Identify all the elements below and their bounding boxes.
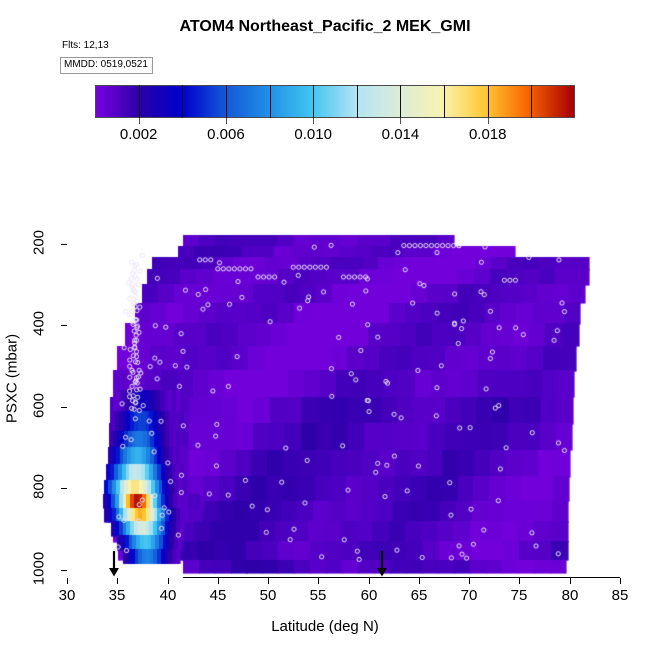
y-axis-tick-label: 600: [31, 388, 48, 424]
x-axis-tick: [519, 578, 520, 584]
colorbar-tick-label: 0.010: [294, 126, 332, 143]
x-axis-tick: [369, 578, 370, 584]
colorbar-tick: [488, 118, 489, 124]
colorbar-tick: [313, 118, 314, 124]
y-axis-tick: [61, 407, 67, 408]
colorbar-tick: [400, 118, 401, 124]
chart-root: ATOM4 Northeast_Pacific_2 MEK_GMI Flts: …: [0, 0, 650, 650]
x-axis-tick-label: 50: [260, 587, 277, 604]
y-axis-tick: [61, 570, 67, 571]
colorbar-segment-divider: [400, 85, 401, 118]
y-axis-tick: [61, 325, 67, 326]
x-axis-tick-label: 30: [59, 587, 76, 604]
colorbar-segment-divider: [488, 85, 489, 118]
y-axis-tick: [61, 488, 67, 489]
x-axis-tick-label: 80: [562, 587, 579, 604]
x-axis-tick: [218, 578, 219, 584]
x-axis-title: Latitude (deg N): [0, 618, 650, 635]
colorbar-tick-label: 0.018: [469, 126, 507, 143]
x-axis-tick-label: 75: [511, 587, 528, 604]
x-axis-tick-label: 70: [461, 587, 478, 604]
colorbar-segment-divider: [313, 85, 314, 118]
x-axis-tick-label: 40: [160, 587, 177, 604]
y-axis-tick-label: 400: [31, 306, 48, 342]
x-axis-tick-label: 35: [109, 587, 126, 604]
colorbar-tick: [139, 118, 140, 124]
y-axis-tick-label: 200: [31, 225, 48, 261]
colorbar-segment-divider: [139, 85, 140, 118]
x-axis-tick: [570, 578, 571, 584]
colorbar: [95, 85, 575, 118]
y-axis-title: PSXC (mbar): [4, 289, 21, 469]
y-axis-tick: [61, 244, 67, 245]
x-axis-tick-label: 60: [361, 587, 378, 604]
profile-marker-arrow: [375, 551, 389, 577]
x-axis-tick: [620, 578, 621, 584]
y-axis-tick-label: 800: [31, 469, 48, 505]
colorbar-segment-divider: [270, 85, 271, 118]
flights-label: Flts: 12,13: [62, 40, 109, 51]
x-axis-tick-label: 85: [612, 587, 629, 604]
colorbar-tick-label: 0.014: [382, 126, 420, 143]
x-axis-tick: [117, 578, 118, 584]
y-axis-tick-label: 1000: [31, 551, 48, 587]
colorbar-segment-divider: [182, 85, 183, 118]
colorbar-segment-divider: [531, 85, 532, 118]
colorbar-segment-divider: [357, 85, 358, 118]
mmdd-label: MMDD: 0519,0521: [60, 57, 153, 74]
colorbar-segment-divider: [444, 85, 445, 118]
x-axis-tick: [318, 578, 319, 584]
colorbar-tick-label: 0.002: [120, 126, 158, 143]
page-title: ATOM4 Northeast_Pacific_2 MEK_GMI: [0, 18, 650, 36]
x-axis-tick-label: 55: [310, 587, 327, 604]
x-axis-tick: [268, 578, 269, 584]
x-axis-tick-label: 45: [210, 587, 227, 604]
heatmap-plot-area: [67, 215, 620, 578]
x-axis-tick-label: 65: [411, 587, 428, 604]
colorbar-segment-divider: [226, 85, 227, 118]
profile-marker-arrow: [107, 551, 121, 577]
x-axis-tick: [67, 578, 68, 584]
x-axis-tick: [168, 578, 169, 584]
colorbar-tick-label: 0.006: [207, 126, 245, 143]
x-axis-tick: [419, 578, 420, 584]
x-axis-tick: [469, 578, 470, 584]
colorbar-tick: [226, 118, 227, 124]
